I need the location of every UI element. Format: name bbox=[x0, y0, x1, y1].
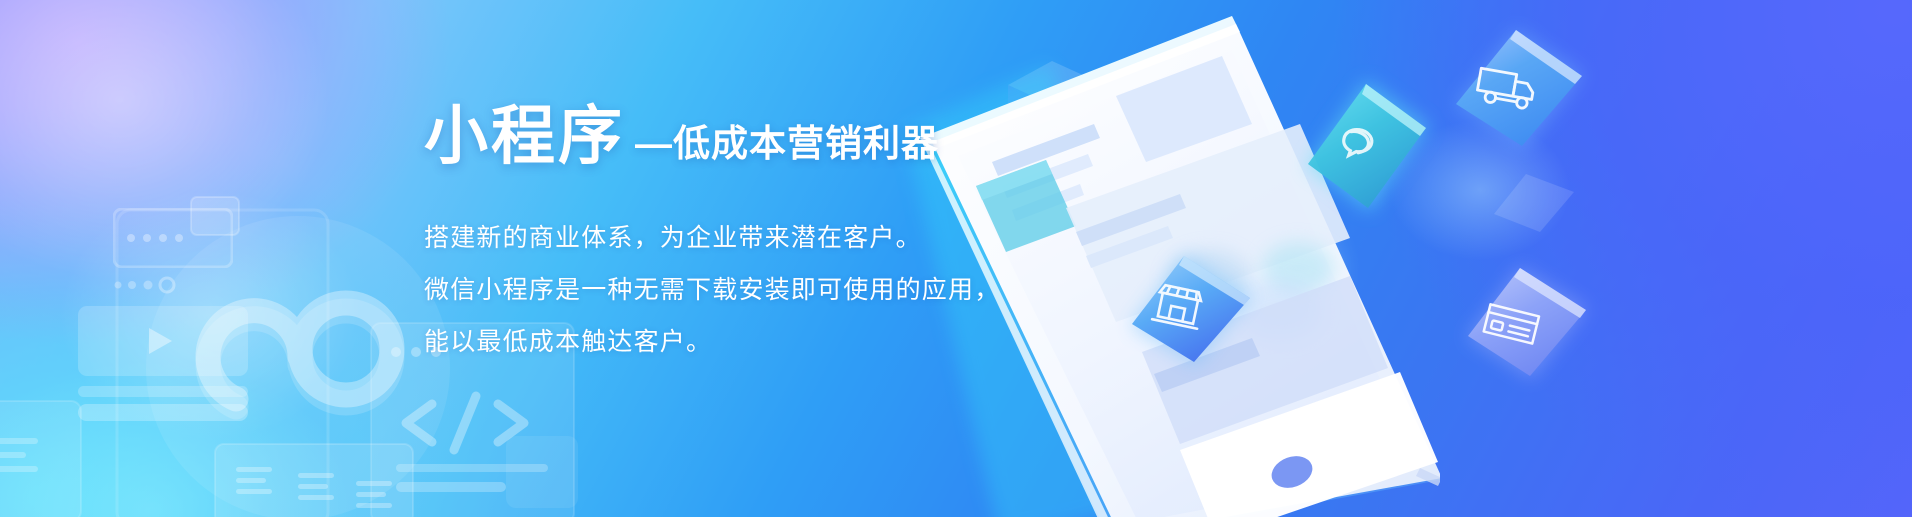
chat-bubbles-icon-card bbox=[1278, 62, 1453, 237]
credit-card-icon-card bbox=[1452, 252, 1632, 422]
ghost-device-outline bbox=[115, 208, 330, 517]
play-icon bbox=[149, 328, 172, 354]
window-decoration bbox=[113, 208, 233, 268]
banner-description: 搭建新的商业体系，为企业带来潜在客户。 微信小程序是一种无需下载安装即可使用的应… bbox=[424, 212, 1184, 368]
floating-square-decoration bbox=[500, 430, 590, 517]
hero-banner: 小程序 —低成本营销利器 搭建新的商业体系，为企业带来潜在客户。 微信小程序是一… bbox=[0, 0, 1912, 517]
video-card-decoration bbox=[74, 300, 254, 485]
description-line: 能以最低成本触达客户。 bbox=[424, 316, 1184, 368]
light-bloom bbox=[0, 0, 330, 280]
banner-text-block: 小程序 —低成本营销利器 搭建新的商业体系，为企业带来潜在客户。 微信小程序是一… bbox=[424, 104, 1184, 368]
title-sub-text: —低成本营销利器 bbox=[635, 125, 939, 162]
light-bloom bbox=[0, 360, 360, 517]
code-brackets-icon bbox=[406, 396, 524, 450]
delivery-truck-icon-card bbox=[1432, 12, 1612, 182]
description-line: 搭建新的商业体系，为企业带来潜在客户。 bbox=[424, 212, 1184, 264]
chip-decoration bbox=[190, 196, 240, 236]
toolbar-dots-decoration bbox=[110, 272, 225, 298]
description-line: 微信小程序是一种无需下载安装即可使用的应用， bbox=[424, 264, 1184, 316]
light-bloom bbox=[60, 190, 360, 440]
banner-title: 小程序 —低成本营销利器 bbox=[424, 104, 1184, 168]
list-card-decoration bbox=[214, 443, 414, 517]
title-main-text: 小程序 bbox=[424, 104, 625, 168]
side-list-decoration bbox=[0, 400, 82, 517]
